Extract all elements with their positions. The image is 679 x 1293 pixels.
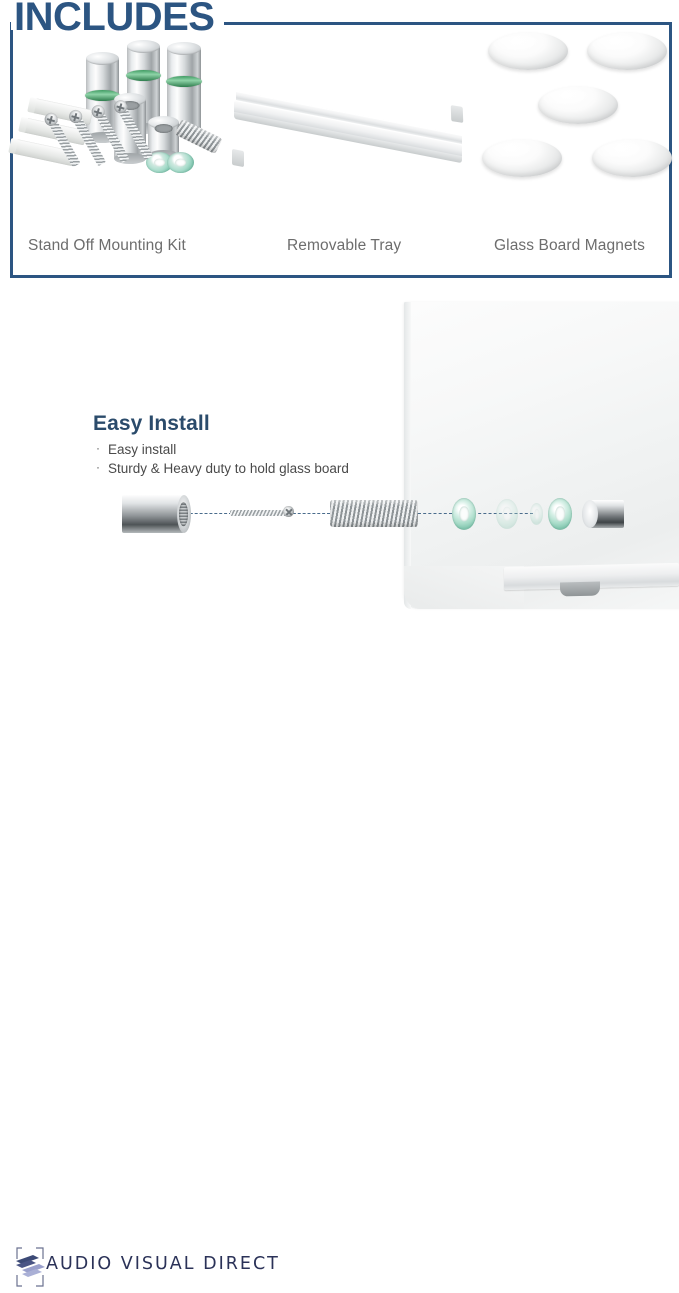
magnet-4 [482, 139, 562, 177]
standoff-mounting-kit-label: Stand Off Mounting Kit [28, 237, 186, 255]
assembly-mounting-screw [230, 510, 288, 516]
brand-name: AUDIO VISUAL DIRECT [46, 1254, 280, 1274]
washer-reflection [496, 499, 518, 529]
screw-head [283, 506, 294, 517]
magnet-5 [592, 139, 672, 177]
threaded-bolt-stud [330, 500, 418, 527]
bullet-icon: · [96, 458, 100, 477]
footer: AUDIO VISUAL DIRECT [0, 622, 679, 672]
tray-mounting-bracket [560, 582, 600, 597]
bullet-icon: · [96, 439, 100, 458]
glass-board-left-edge [404, 302, 411, 609]
barrel-top-face [167, 42, 201, 55]
screw-shaft [230, 510, 288, 516]
barrel-threaded-socket [154, 124, 173, 133]
infographic-page: INCLUDES [0, 0, 679, 672]
magnet-3 [538, 86, 618, 124]
tray-left-end-cap [232, 149, 244, 167]
barrel-top-face [86, 52, 119, 65]
green-washer-back [548, 498, 572, 530]
barrel-green-ring [126, 70, 161, 81]
standoff-barrel-5 [148, 122, 179, 156]
barrel-threaded-bore [179, 502, 188, 526]
chrome-barrel-sleeve [122, 495, 184, 533]
anchor-flange [18, 117, 28, 133]
easy-install-bullet-list: · Easy install · Sturdy & Heavy duty to … [96, 440, 349, 478]
brand-logo-icon [14, 1246, 48, 1288]
list-item: · Easy install [96, 440, 349, 459]
magnet-1 [488, 32, 568, 70]
green-washer-2 [167, 152, 194, 173]
assembly-center-axis-2 [288, 513, 330, 514]
glass-board-magnets-photo [470, 22, 670, 207]
assembly-center-axis-3 [418, 513, 452, 514]
removable-tray-photo [232, 104, 467, 184]
list-item-label: Sturdy & Heavy duty to hold glass board [108, 461, 349, 476]
page-title: INCLUDES [14, 0, 224, 40]
washer-reflection-2 [530, 503, 543, 525]
chrome-cap [590, 500, 624, 528]
list-item-label: Easy install [108, 442, 176, 457]
list-item: · Sturdy & Heavy duty to hold glass boar… [96, 459, 349, 478]
green-washer-front [452, 498, 476, 530]
chrome-cap-face [582, 500, 598, 528]
anchor-flange [8, 138, 18, 154]
glass-board-magnets-label: Glass Board Magnets [494, 237, 645, 255]
tray-right-end-cap [451, 105, 464, 123]
easy-install-heading: Easy Install [93, 412, 210, 436]
exploded-standoff-assembly [118, 487, 568, 542]
magnet-2 [587, 32, 667, 70]
barrel-green-ring [166, 76, 202, 87]
removable-tray-label: Removable Tray [287, 237, 401, 255]
anchor-flange [27, 97, 37, 113]
barrel-top-face [127, 40, 160, 53]
